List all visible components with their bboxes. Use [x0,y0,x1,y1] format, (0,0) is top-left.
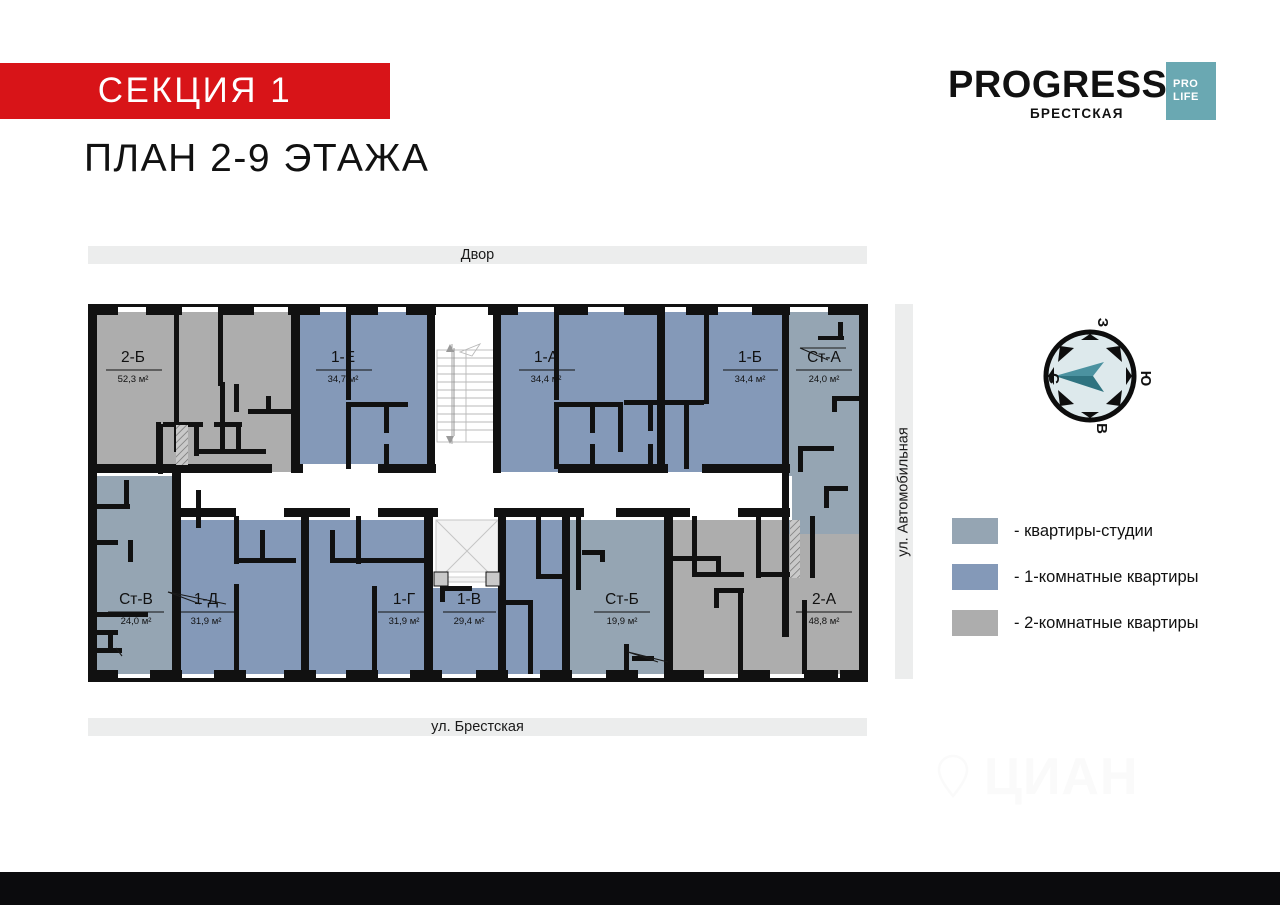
apt-name: Ст-А [807,349,841,366]
apt-area: 31,9 м² [389,616,420,627]
apt-area: 52,3 м² [118,374,149,385]
apt-name: 1-А [534,349,559,366]
logo-subtitle: БРЕСТСКАЯ [1030,106,1124,121]
apt-area: 29,4 м² [454,616,485,627]
floor-plan-drawing: 2-Б 52,3 м² 1-Е 34,7 м² 1-А 34,4 м² 1-Б [88,304,868,682]
section-banner: СЕКЦИЯ 1 [0,63,390,119]
apt-area: 24,0 м² [121,616,152,627]
apt-name: 1-Б [738,349,762,366]
bottom-bar [0,872,1280,905]
logo-badge-line2: LIFE [1173,91,1199,103]
unit-fill-1e [300,312,433,472]
legend-label-two-room: - 2-комнатные квартиры [1014,614,1199,633]
compass-label-north: З [1094,318,1111,327]
yard-label: Двор [461,247,495,263]
apt-name: Ст-Б [605,591,639,608]
page-title: ПЛАН 2-9 ЭТАЖА [84,137,429,181]
street-label-avtomobilnaya: ул. Автомобильная [896,427,912,556]
apt-area: 24,0 м² [809,374,840,385]
compass-label-south: В [1093,423,1110,434]
street-band-bottom: ул. Брестская [88,718,867,736]
apt-name: 1-В [457,591,481,608]
watermark: ЦИАН [930,742,1190,812]
legend-label-one-room: - 1-комнатные квартиры [1014,568,1199,587]
logo-wordmark: PROGRESS [948,64,1167,107]
apt-name: 1-Е [331,349,355,366]
apt-name: 2-Б [121,349,145,366]
legend-item-studio: - квартиры-студии [952,508,1252,554]
apt-area: 31,9 м² [191,616,222,627]
apt-name: Ст-В [119,591,153,608]
unit-fill-2b [96,312,291,472]
apt-name: 2-А [812,591,837,608]
logo-badge: PRO LIFE [1166,62,1216,120]
apt-area: 48,8 м² [809,616,840,627]
legend-swatch-one-room [952,564,998,590]
unit-fill-1a [500,312,658,472]
section-label: СЕКЦИЯ 1 [98,71,293,111]
legend-swatch-two-room [952,610,998,636]
logo-badge-line1: PRO [1173,78,1198,90]
street-label-brestskaya: ул. Брестская [431,719,524,735]
yard-band: Двор [88,246,867,264]
stairwell [435,312,497,474]
apt-name: 1-Г [393,591,416,608]
apt-area: 19,9 м² [607,616,638,627]
watermark-text: ЦИАН [984,747,1138,807]
brand-logo: PROGRESS БРЕСТСКАЯ PRO LIFE [948,62,1216,122]
apt-area: 34,7 м² [328,374,359,385]
compass-label-west: С [1045,373,1062,384]
watermark-icon [930,752,976,802]
street-band-right: ул. Автомобильная [895,304,913,679]
legend-item-one-room: - 1-комнатные квартиры [952,554,1252,600]
unit-fill-1b [664,312,784,472]
legend-label-studio: - квартиры-студии [1014,522,1153,541]
apt-area: 34,4 м² [531,374,562,385]
legend-item-two-room: - 2-комнатные квартиры [952,600,1252,646]
apt-name: 1-Д [194,591,219,608]
compass-label-east: Ю [1137,371,1154,386]
compass-rose: З Ю В С [1022,312,1158,444]
apt-area: 34,4 м² [735,374,766,385]
floor-plan-page: СЕКЦИЯ 1 ПЛАН 2-9 ЭТАЖА PROGRESS БРЕСТСК… [0,0,1280,905]
legend-swatch-studio [952,518,998,544]
legend: - квартиры-студии - 1-комнатные квартиры… [952,508,1252,646]
